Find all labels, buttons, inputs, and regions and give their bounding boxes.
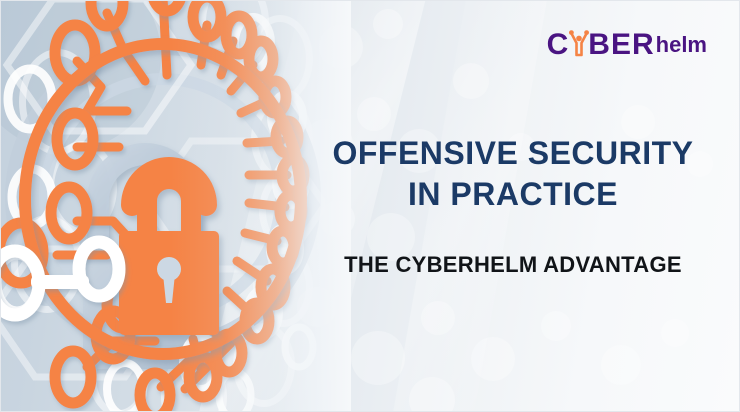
logo-letter-c: C [547, 30, 570, 60]
logo-word-helm: helm [656, 34, 707, 56]
headline-block: OFFENSIVE SECURITY IN PRACTICE [301, 133, 725, 215]
subtitle-text: THE CYBERHELM ADVANTAGE [301, 252, 725, 278]
promotional-banner: C BER helm OFFENSIVE SECURITY IN PRACTIC… [0, 0, 740, 412]
padlock-circuit-illustration [0, 0, 325, 412]
padlock-icon [119, 168, 219, 335]
headline-line-1: OFFENSIVE SECURITY [301, 133, 725, 174]
stylized-y-person-icon [569, 30, 589, 60]
logo-letters-ber: BER [588, 30, 654, 60]
headline-line-2: IN PRACTICE [301, 174, 725, 215]
cyberhelm-logo[interactable]: C BER helm [547, 30, 707, 60]
